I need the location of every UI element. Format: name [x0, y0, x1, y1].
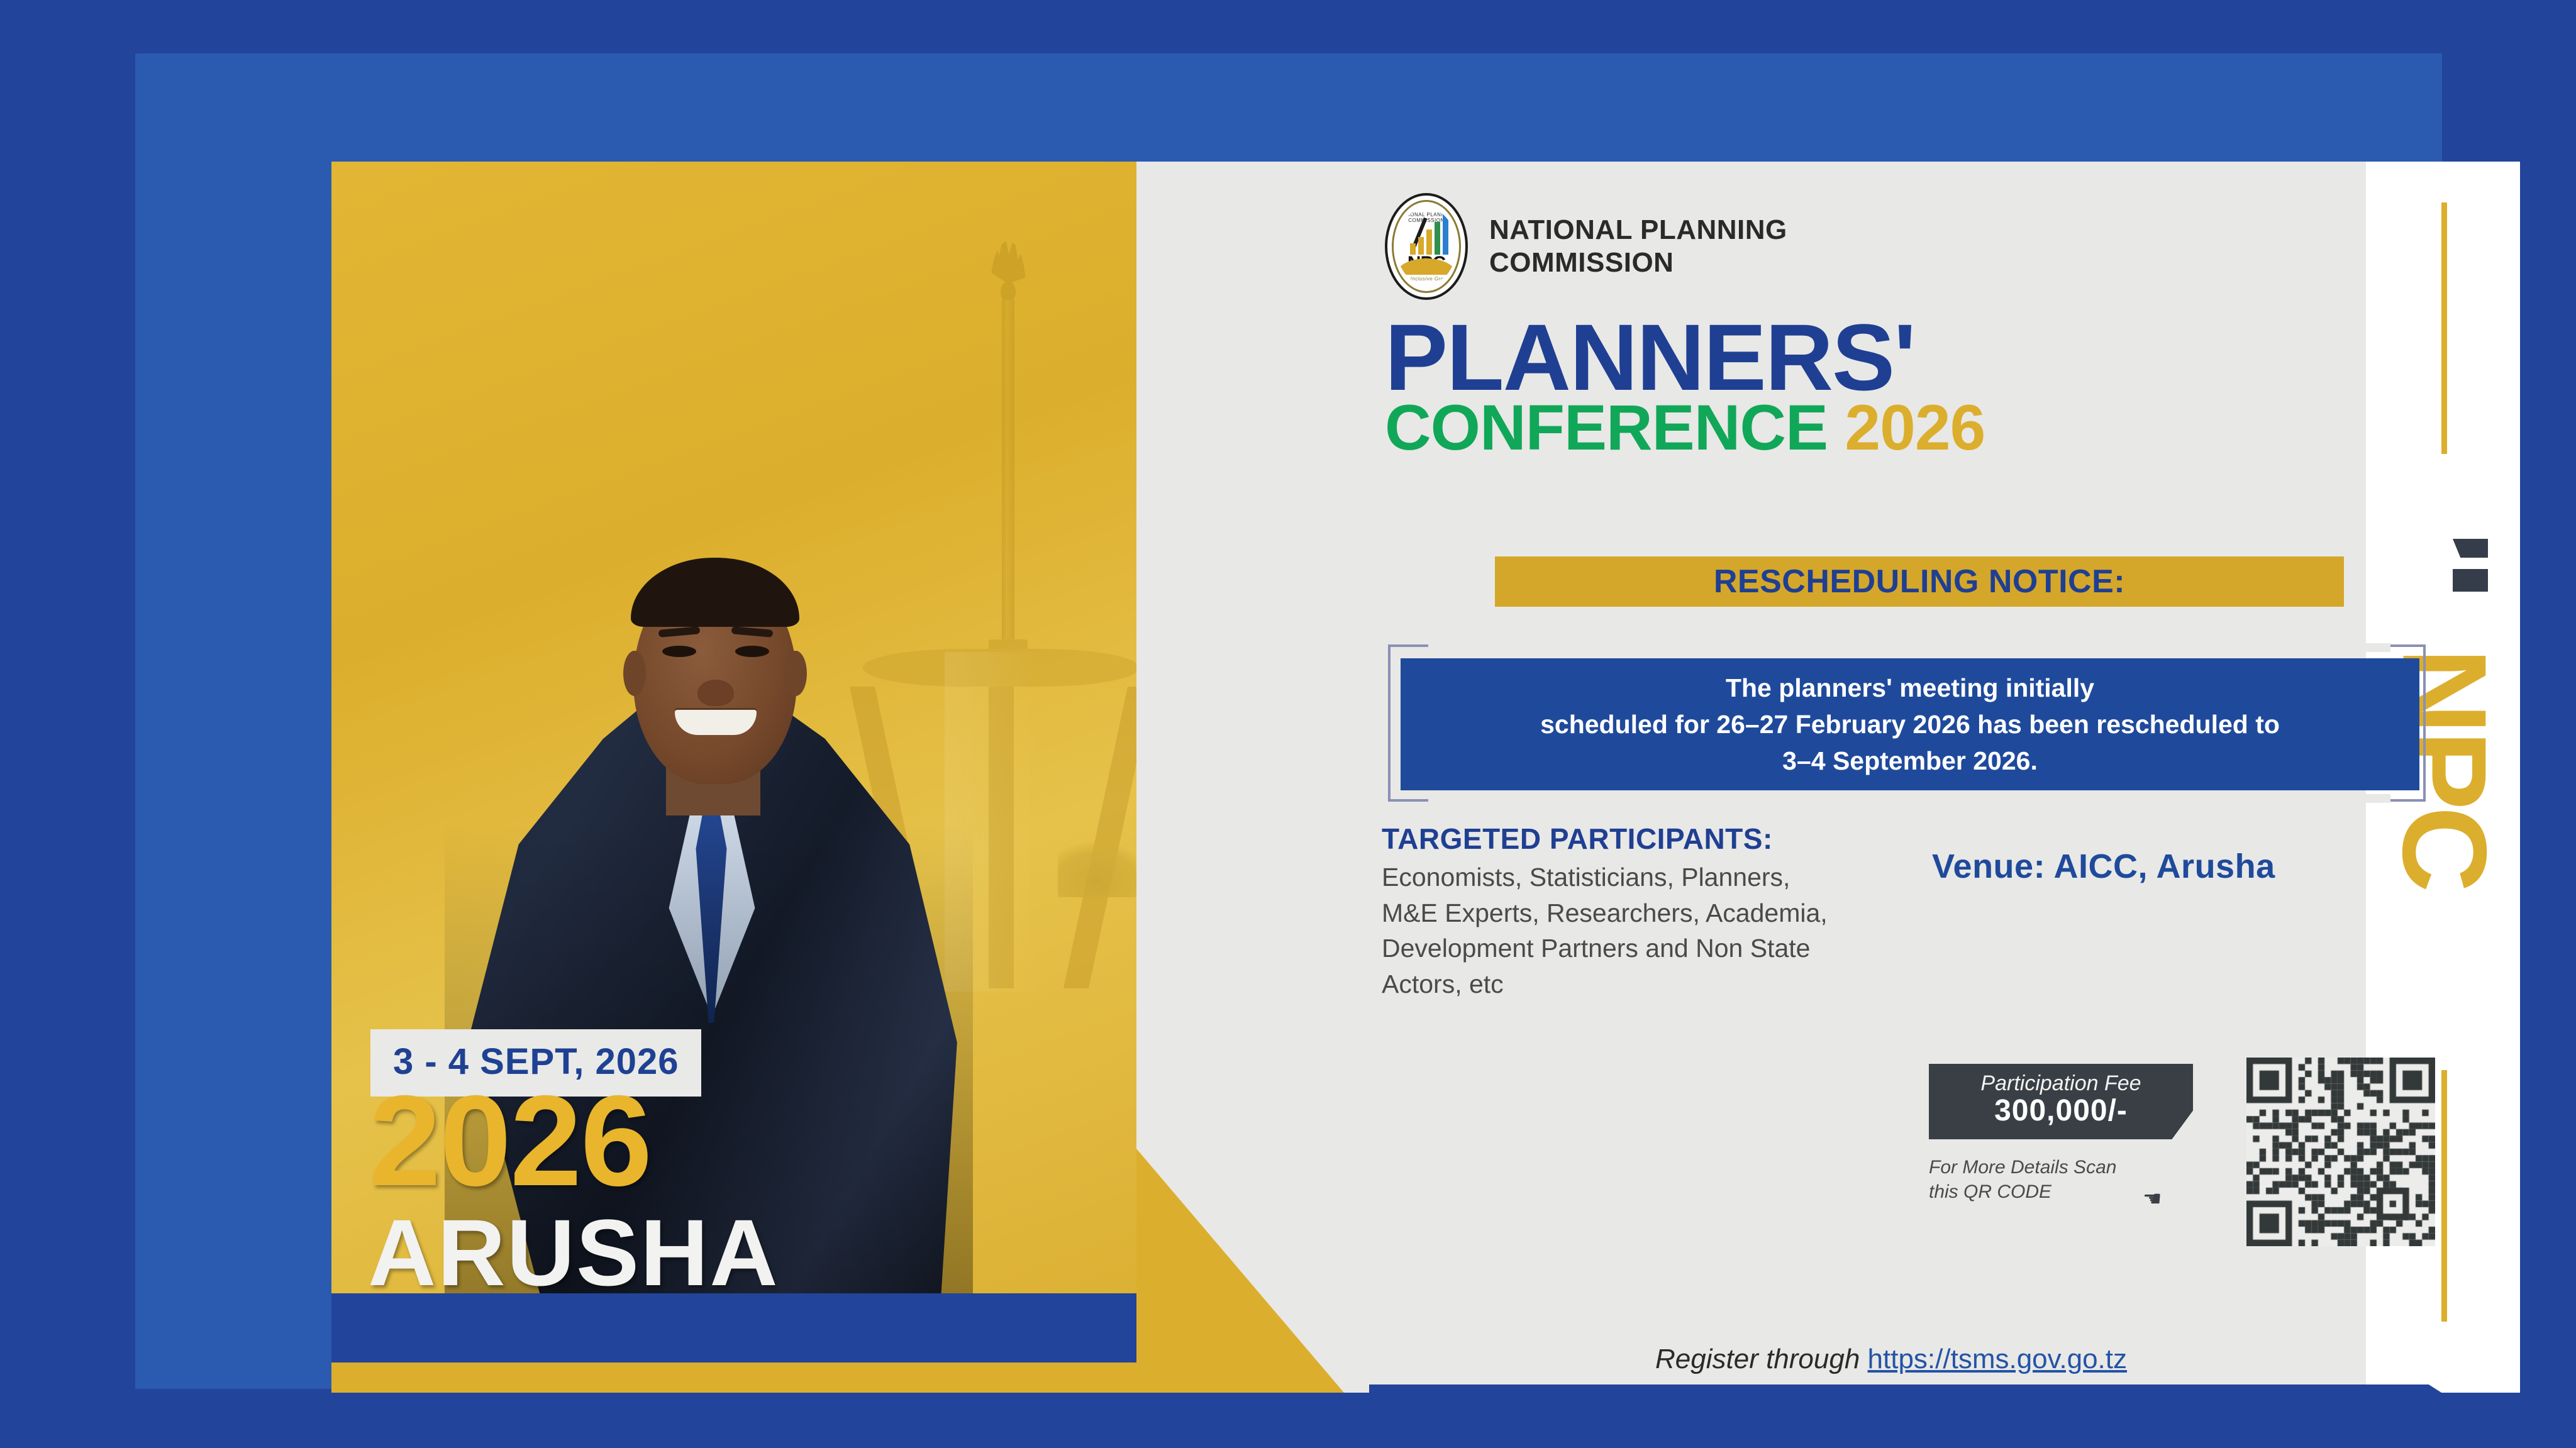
- participants-line-2: M&E Experts, Researchers, Academia,: [1382, 898, 1828, 927]
- npc-seal-icon: NATIONAL PLANNING COMMISSION NPC For Inc…: [1385, 193, 1468, 300]
- register-prefix: Register through: [1655, 1344, 1868, 1374]
- sidebar-rail-top: [2441, 202, 2447, 454]
- notice-message-box: The planners' meeting initially schedule…: [1401, 658, 2419, 790]
- main-content: NATIONAL PLANNING COMMISSION NPC For Inc…: [1136, 162, 2366, 1393]
- npc-accent-mark-secondary-icon: [2453, 569, 2488, 592]
- organization-name-line1: NATIONAL PLANNING: [1489, 214, 1787, 246]
- title-line-planners: PLANNERS': [1385, 312, 1915, 402]
- participants-line-1: Economists, Statisticians, Planners,: [1382, 863, 1790, 892]
- poster-inner-frame: 3 - 4 SEPT, 2026 2026 ARUSHA NPC: [135, 53, 2442, 1389]
- pointing-hand-icon: ☚: [2143, 1186, 2162, 1212]
- poster-canvas: 3 - 4 SEPT, 2026 2026 ARUSHA NPC: [331, 162, 2520, 1393]
- participation-fee-amount: 300,000/-: [1994, 1095, 2128, 1128]
- year-headline: 2026: [369, 1076, 651, 1205]
- left-gold-bar: [331, 1362, 1172, 1393]
- register-line: Register through https://tsms.gov.go.tz: [1655, 1344, 2127, 1375]
- rescheduling-notice-banner: RESCHEDULING NOTICE:: [1495, 556, 2344, 607]
- venue-text: Venue: AICC, Arusha: [1932, 847, 2275, 886]
- contact-footer-bar: +255 716 797 595 | +255 716 024 549 f pl…: [1369, 1384, 2473, 1393]
- notice-line-2: scheduled for 26–27 February 2026 has be…: [1540, 710, 2280, 739]
- city-headline: ARUSHA: [368, 1205, 779, 1293]
- qr-scan-note-line2: this QR CODE: [1929, 1181, 2051, 1202]
- qr-scan-note-line1: For More Details Scan: [1929, 1157, 2116, 1178]
- participants-line-4: Actors, etc: [1382, 970, 1504, 998]
- participants-list: Economists, Statisticians, Planners, M&E…: [1382, 859, 1860, 1002]
- notice-line-3: 3–4 September 2026.: [1782, 746, 2038, 775]
- participants-line-3: Development Partners and Non State: [1382, 934, 1810, 963]
- organization-name-line2: COMMISSION: [1489, 246, 1787, 279]
- participation-fee-tag: Participation Fee 300,000/-: [1929, 1064, 2193, 1139]
- title-line-conference: CONFERENCE 2026: [1385, 395, 1985, 460]
- notice-line-1: The planners' meeting initially: [1726, 673, 2094, 702]
- left-blue-bar: [331, 1293, 1172, 1362]
- left-visual-panel: 3 - 4 SEPT, 2026 2026 ARUSHA: [331, 162, 1136, 1293]
- title-conference-word: CONFERENCE: [1385, 392, 1828, 463]
- organization-name: NATIONAL PLANNING COMMISSION: [1489, 214, 1787, 279]
- sidebar-rail-bottom: [2441, 1070, 2447, 1322]
- seal-motto: For Inclusive Growth: [1396, 276, 1457, 282]
- organization-header: NATIONAL PLANNING COMMISSION NPC For Inc…: [1385, 193, 1787, 300]
- rescheduling-notice-label: RESCHEDULING NOTICE:: [1714, 563, 2125, 600]
- title-conference-year: 2026: [1845, 392, 1985, 463]
- qr-code-icon[interactable]: [2246, 1058, 2435, 1246]
- notice-message-text: The planners' meeting initially schedule…: [1540, 670, 2280, 780]
- participation-fee-label: Participation Fee: [1980, 1073, 2141, 1095]
- poster-outer-frame: 3 - 4 SEPT, 2026 2026 ARUSHA NPC: [0, 0, 2576, 1448]
- participants-heading: TARGETED PARTICIPANTS:: [1382, 822, 1773, 856]
- register-url-link[interactable]: https://tsms.gov.go.tz: [1868, 1344, 2127, 1374]
